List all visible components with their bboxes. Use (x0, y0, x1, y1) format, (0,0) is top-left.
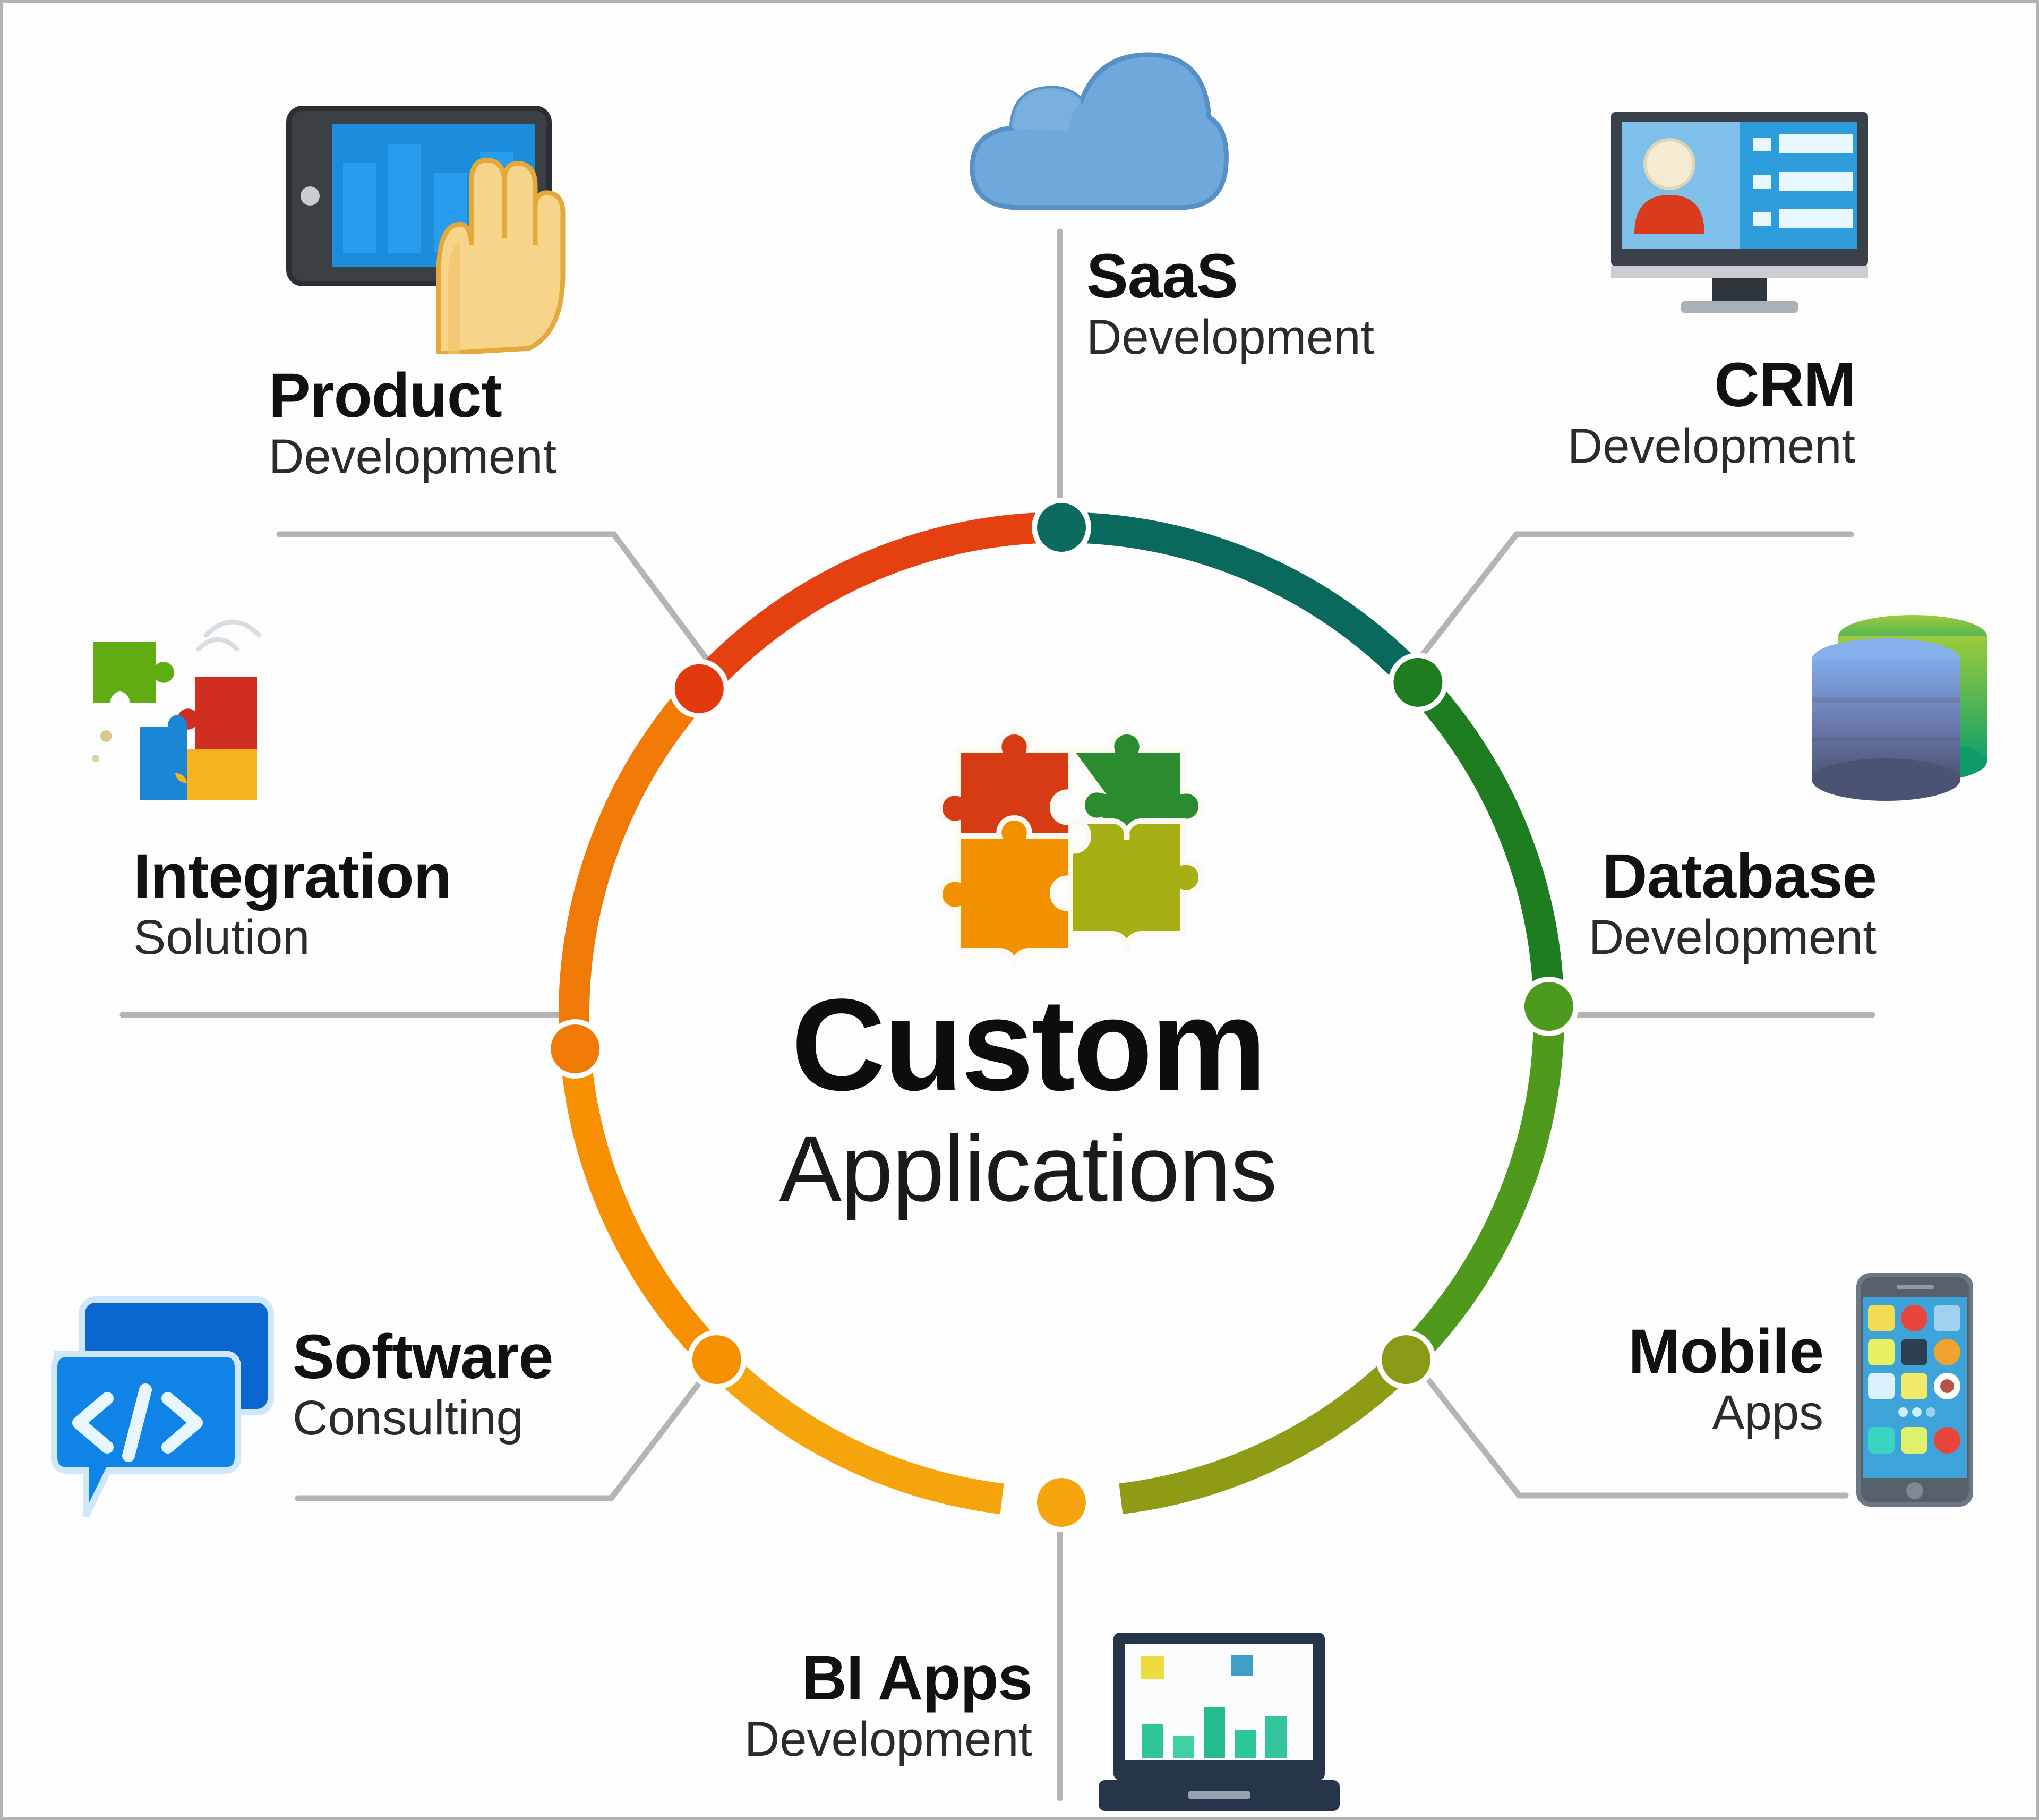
ring-segment-integration-deep-orange (574, 702, 688, 1023)
label-mobile-title: Mobile (1628, 1320, 1823, 1383)
puzzle-pieces-icon (72, 614, 306, 837)
label-database-subtitle: Development (1589, 913, 1877, 962)
ring-segment-mobile-to-bi-yellowgreen (1121, 1377, 1387, 1499)
label-bi[interactable]: BI Apps Development (744, 1647, 1032, 1764)
label-bi-title: BI Apps (744, 1647, 1032, 1710)
label-software[interactable]: Software Consulting (293, 1326, 553, 1442)
label-database[interactable]: Database Development (1589, 845, 1877, 962)
node-bi-dot[interactable] (1037, 1478, 1086, 1527)
label-saas[interactable]: SaaS Development (1086, 245, 1374, 362)
label-software-title: Software (293, 1326, 553, 1388)
node-mobile-dot[interactable] (1382, 1335, 1430, 1384)
node-software-dot[interactable] (692, 1335, 741, 1384)
node-crm-dot[interactable] (1393, 658, 1442, 707)
label-saas-title: SaaS (1086, 245, 1374, 307)
smartphone-icon (1851, 1270, 1984, 1514)
database-cylinder-icon (1793, 603, 2016, 826)
label-integration[interactable]: Integration Solution (133, 845, 451, 962)
center-title: Custom (736, 983, 1320, 1107)
connector-crm (1413, 534, 1851, 667)
ring-segment-bi-to-software-amber (735, 1377, 1002, 1499)
code-chat-bubbles-icon (35, 1286, 290, 1519)
label-integration-title: Integration (133, 845, 451, 908)
connector-product (279, 534, 715, 670)
node-database-dot[interactable] (1524, 982, 1573, 1031)
label-product[interactable]: Product Development (269, 364, 556, 481)
label-software-subtitle: Consulting (293, 1394, 553, 1442)
label-crm[interactable]: CRM Development (1567, 354, 1855, 471)
label-crm-subtitle: Development (1567, 422, 1855, 471)
ring-segment-database-to-mobile-olive (1418, 1023, 1549, 1347)
label-integration-subtitle: Solution (133, 913, 451, 962)
label-product-title: Product (269, 364, 556, 427)
ring-segment-saas-to-crm-teal (1087, 528, 1406, 670)
label-saas-subtitle: Development (1086, 313, 1374, 362)
node-product-dot[interactable] (675, 664, 724, 713)
center-subtitle: Applications (736, 1122, 1320, 1216)
node-saas-dot[interactable] (1037, 503, 1086, 552)
tablet-touch-icon (279, 99, 577, 354)
label-product-subtitle: Development (269, 432, 556, 481)
label-mobile[interactable]: Mobile Apps (1628, 1320, 1823, 1437)
label-crm-title: CRM (1567, 354, 1855, 416)
ring-segment-software-to-integr-orange (577, 1066, 705, 1347)
four-piece-puzzle-icon (906, 699, 1209, 975)
laptop-chart-icon (1094, 1628, 1344, 1820)
node-integration-dot[interactable] (551, 1024, 599, 1073)
label-bi-subtitle: Development (744, 1715, 1032, 1764)
label-database-title: Database (1589, 845, 1877, 908)
ring-segment-product-red (717, 528, 1036, 670)
monitor-contact-icon (1601, 107, 1878, 330)
label-mobile-subtitle: Apps (1628, 1388, 1823, 1437)
center-label: Custom Applications (736, 983, 1320, 1216)
ring-segment-crm-to-database-green (1435, 702, 1548, 981)
infographic-canvas: Custom Applications Product Development … (0, 0, 2039, 1820)
cloud-icon (956, 32, 1232, 224)
